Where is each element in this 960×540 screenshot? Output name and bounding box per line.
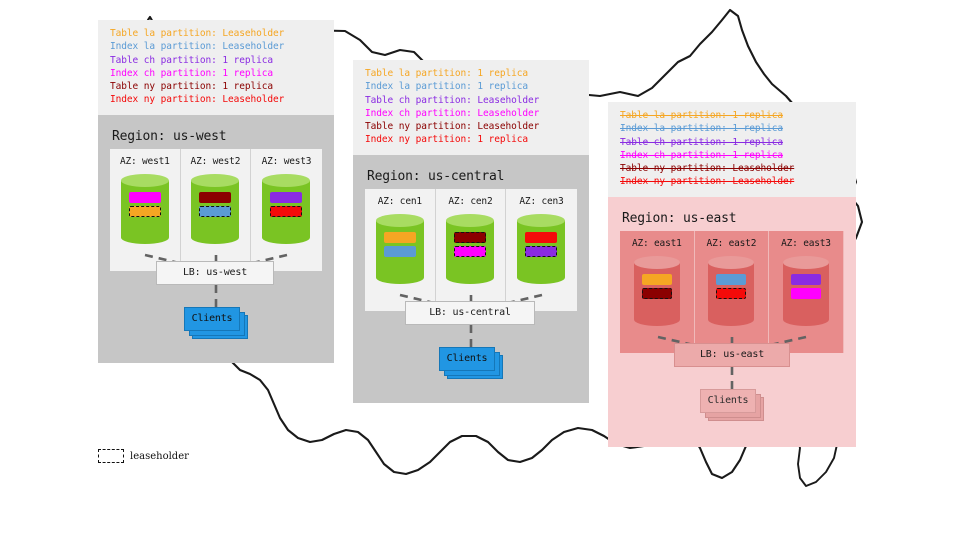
partition-bar-replica[interactable] [791,274,821,285]
partition-line: Table la partition: 1 replica [365,67,579,80]
clients-stack-us-west[interactable]: Clients [184,307,252,341]
partition-bar-replica[interactable] [791,288,821,299]
load-balancer-us-west[interactable]: LB: us-west [156,261,274,285]
partition-bars [262,192,310,217]
clients-label: Clients [447,353,488,364]
partition-line: Index la partition: Leaseholder [110,40,324,53]
partition-bar-replica[interactable] [525,232,557,243]
partition-line: Index ny partition: Leaseholder [620,175,846,188]
diagram-canvas: Table la partition: Leaseholder Index la… [0,0,960,540]
az-cell-west1[interactable]: AZ: west1 [110,149,181,271]
az-row-us-central: AZ: cen1 AZ: cen2 AZ: cen3 [365,189,577,311]
partition-bar-leaseholder[interactable] [129,206,161,217]
clients-label: Clients [708,395,749,406]
database-node-cen1[interactable] [376,214,424,284]
lb-label: LB: us-central [429,307,511,318]
database-node-west3[interactable] [262,174,310,244]
partition-bar-leaseholder[interactable] [716,288,746,299]
legend-label: leaseholder [130,451,189,462]
partition-legend-us-central: Table la partition: 1 replica Index la p… [353,60,589,155]
partition-bars [121,192,169,217]
partition-bar-replica[interactable] [716,274,746,285]
az-cell-east3[interactable]: AZ: east3 [769,231,844,353]
region-title: Region: us-east [608,197,856,226]
az-label: AZ: east1 [632,238,682,249]
region-body-us-central: Region: us-central AZ: cen1 AZ: cen2 AZ:… [353,155,589,403]
lb-label: LB: us-east [700,349,764,360]
partition-bar-replica[interactable] [270,192,302,203]
partition-bar-leaseholder[interactable] [270,206,302,217]
partition-line: Index ny partition: Leaseholder [110,93,324,106]
partition-line: Index la partition: 1 replica [365,80,579,93]
partition-legend-us-east: Table la partition: 1 replica Index la p… [608,102,856,197]
region-panel-us-east: Table la partition: 1 replica Index la p… [608,102,856,447]
partition-bar-leaseholder[interactable] [454,232,486,243]
az-label: AZ: east3 [781,238,831,249]
az-label: AZ: west1 [120,156,170,167]
region-panel-us-west: Table la partition: Leaseholder Index la… [98,20,334,363]
lb-label: LB: us-west [183,267,247,278]
az-cell-west2[interactable]: AZ: west2 [181,149,252,271]
region-body-us-east: Region: us-east AZ: east1 AZ: east2 AZ: … [608,197,856,447]
load-balancer-us-east[interactable]: LB: us-east [674,343,790,367]
partition-bar-replica[interactable] [199,192,231,203]
partition-line: Table ch partition: 1 replica [620,136,846,149]
az-label: AZ: west2 [191,156,241,167]
az-cell-cen1[interactable]: AZ: cen1 [365,189,436,311]
database-node-cen3[interactable] [517,214,565,284]
partition-bar-replica[interactable] [129,192,161,203]
region-title: Region: us-central [353,155,589,184]
partition-line: Table la partition: 1 replica [620,109,846,122]
legend: leaseholder [98,449,189,463]
region-body-us-west: Region: us-west AZ: west1 AZ: west2 AZ: … [98,115,334,363]
clients-stack-us-central[interactable]: Clients [439,347,507,381]
clients-box-us-west[interactable]: Clients [184,307,240,331]
partition-bars [376,232,424,257]
clients-box-us-central[interactable]: Clients [439,347,495,371]
database-node-east1[interactable] [634,256,680,326]
partition-bar-leaseholder[interactable] [454,246,486,257]
partition-line: Index ch partition: 1 replica [620,149,846,162]
az-label: AZ: west3 [262,156,312,167]
az-cell-east1[interactable]: AZ: east1 [620,231,695,353]
az-label: AZ: cen2 [448,196,492,207]
partition-bars [446,232,494,257]
az-row-us-east: AZ: east1 AZ: east2 AZ: east3 [620,231,844,353]
region-panel-us-central: Table la partition: 1 replica Index la p… [353,60,589,403]
partition-bars [517,232,565,257]
partition-line: Table ch partition: 1 replica [110,54,324,67]
partition-line: Table ny partition: Leaseholder [620,162,846,175]
partition-line: Index la partition: 1 replica [620,122,846,135]
load-balancer-us-central[interactable]: LB: us-central [405,301,535,325]
az-label: AZ: cen1 [378,196,422,207]
partition-bar-leaseholder[interactable] [525,246,557,257]
dashed-rect-icon [98,449,124,463]
partition-line: Index ny partition: 1 replica [365,133,579,146]
partition-bar-replica[interactable] [384,246,416,257]
az-cell-cen3[interactable]: AZ: cen3 [506,189,577,311]
partition-legend-us-west: Table la partition: Leaseholder Index la… [98,20,334,115]
partition-bars [783,274,829,299]
partition-line: Index ch partition: Leaseholder [365,107,579,120]
partition-line: Index ch partition: 1 replica [110,67,324,80]
region-title: Region: us-west [98,115,334,144]
partition-line: Table ch partition: Leaseholder [365,94,579,107]
partition-line: Table ny partition: 1 replica [110,80,324,93]
database-node-cen2[interactable] [446,214,494,284]
az-label: AZ: east2 [707,238,757,249]
az-cell-east2[interactable]: AZ: east2 [695,231,770,353]
clients-label: Clients [192,313,233,324]
az-label: AZ: cen3 [519,196,563,207]
database-node-east3[interactable] [783,256,829,326]
partition-bars [191,192,239,217]
database-node-west2[interactable] [191,174,239,244]
partition-bar-leaseholder[interactable] [199,206,231,217]
database-node-west1[interactable] [121,174,169,244]
az-cell-west3[interactable]: AZ: west3 [251,149,322,271]
partition-bars [634,274,680,299]
partition-line: Table la partition: Leaseholder [110,27,324,40]
partition-bar-replica[interactable] [384,232,416,243]
database-node-east2[interactable] [708,256,754,326]
az-row-us-west: AZ: west1 AZ: west2 AZ: west3 [110,149,322,271]
az-cell-cen2[interactable]: AZ: cen2 [436,189,507,311]
clients-stack-us-east[interactable]: Clients [700,389,768,423]
partition-bar-leaseholder[interactable] [642,288,672,299]
partition-bar-replica[interactable] [642,274,672,285]
partition-line: Table ny partition: Leaseholder [365,120,579,133]
partition-bars [708,274,754,299]
clients-box-us-east[interactable]: Clients [700,389,756,413]
